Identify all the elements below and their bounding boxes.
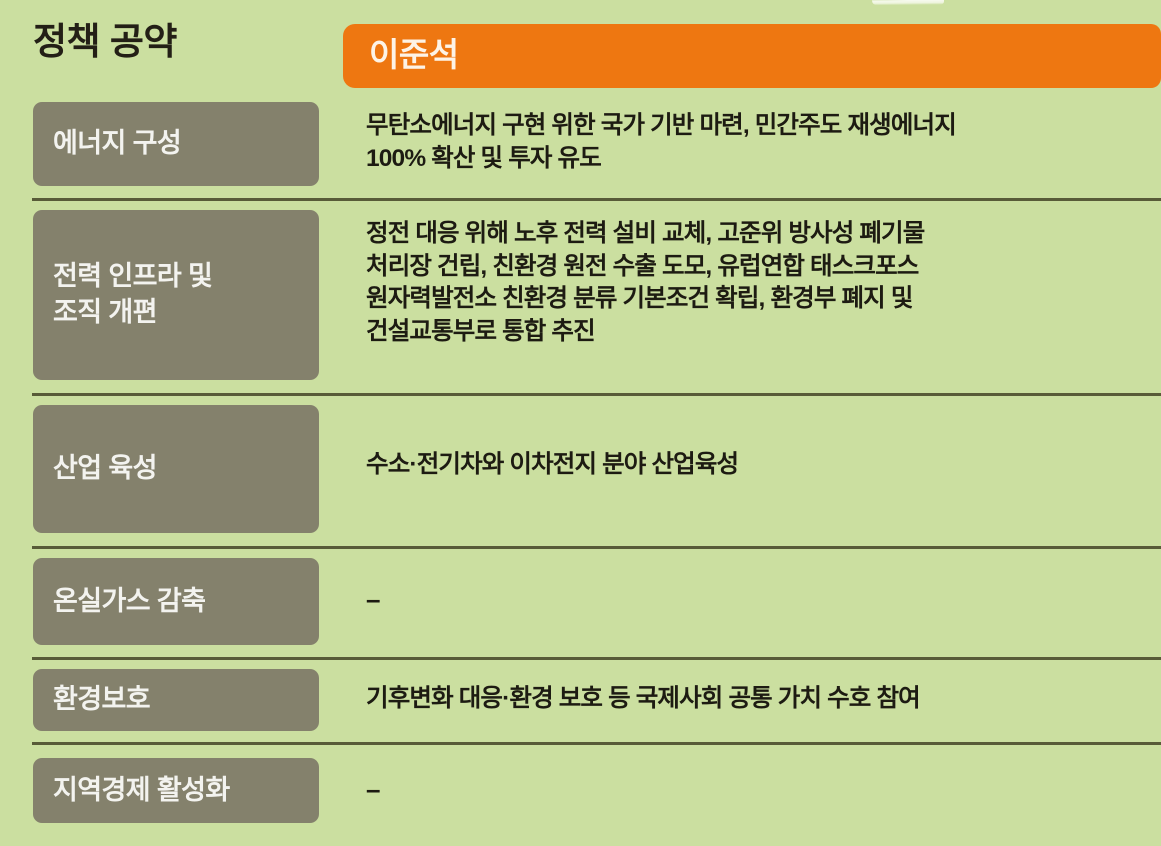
row-content-cell: – xyxy=(366,772,1161,807)
row-divider xyxy=(32,393,1161,396)
row-label-text: 전력 인프라 및 조직 개편 xyxy=(53,259,212,330)
row-label-cell: 환경보호 xyxy=(33,669,319,731)
candidate-name: 이준석 xyxy=(369,34,459,77)
table-header: 정책 공약 이준석 xyxy=(0,0,1161,102)
row-divider xyxy=(32,546,1161,549)
row-content-cell: 기후변화 대응·환경 보호 등 국제사회 공통 가치 수호 참여 xyxy=(366,683,1161,716)
table-row: 에너지 구성 무탄소에너지 구현 위한 국가 기반 마련, 민간주도 재생에너지… xyxy=(0,102,1161,198)
page-title: 정책 공약 xyxy=(33,22,177,63)
row-label-cell: 산업 육성 xyxy=(33,405,319,533)
row-label-text: 산업 육성 xyxy=(53,451,157,487)
row-divider xyxy=(32,198,1161,201)
row-content-cell: 무탄소에너지 구현 위한 국가 기반 마련, 민간주도 재생에너지 100% 확… xyxy=(366,110,1161,175)
row-content-cell: 정전 대응 위해 노후 전력 설비 교체, 고준위 방사성 폐기물 처리장 건립… xyxy=(366,218,1161,348)
row-content-cell: – xyxy=(366,582,1161,617)
table-row: 환경보호 기후변화 대응·환경 보호 등 국제사회 공통 가치 수호 참여 xyxy=(0,657,1161,742)
table-row: 산업 육성 수소·전기차와 이차전지 분야 산업육성 xyxy=(0,393,1161,546)
row-label-cell: 에너지 구성 xyxy=(33,102,319,186)
policy-comparison-table: 정책 공약 이준석 에너지 구성 무탄소에너지 구현 위한 국가 기반 마련, … xyxy=(0,0,1161,846)
row-label-text: 온실가스 감축 xyxy=(53,584,205,620)
row-label-text: 에너지 구성 xyxy=(53,126,181,162)
row-label-cell: 온실가스 감축 xyxy=(33,558,319,645)
row-label-text: 지역경제 활성화 xyxy=(53,773,230,809)
row-label-text: 환경보호 xyxy=(53,682,150,718)
row-divider xyxy=(32,742,1161,745)
table-row: 지역경제 활성화 – xyxy=(0,742,1161,846)
row-content-cell: 수소·전기차와 이차전지 분야 산업육성 xyxy=(366,449,1161,482)
table-row: 온실가스 감축 – xyxy=(0,546,1161,657)
row-divider xyxy=(32,657,1161,660)
row-label-cell: 지역경제 활성화 xyxy=(33,758,319,823)
candidate-column-header: 이준석 xyxy=(343,24,1161,88)
row-label-cell: 전력 인프라 및 조직 개편 xyxy=(33,210,319,380)
table-row: 전력 인프라 및 조직 개편 정전 대응 위해 노후 전력 설비 교체, 고준위… xyxy=(0,198,1161,393)
